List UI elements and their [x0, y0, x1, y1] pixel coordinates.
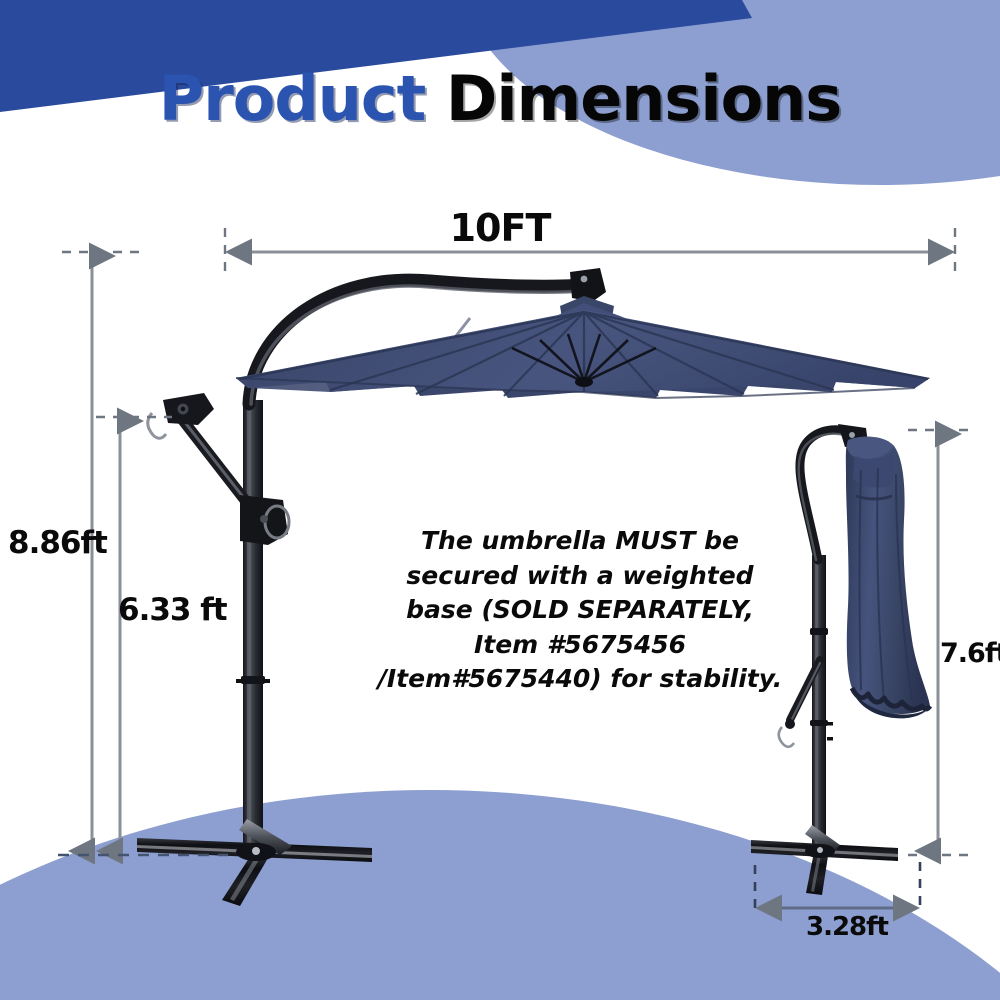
- dimension-label-8-86ft: 8.86ft: [8, 525, 107, 561]
- warning-note-line-3: base (SOLD SEPARATELY,: [360, 593, 800, 628]
- dimension-label-10ft: 10FT: [0, 206, 1000, 250]
- warning-note-line-2: secured with a weighted: [360, 559, 800, 594]
- dim-328ft: [755, 862, 920, 912]
- dim-633ft: [96, 417, 172, 851]
- warning-note: The umbrella MUST be secured with a weig…: [360, 524, 800, 697]
- warning-note-line-1: The umbrella MUST be: [360, 524, 800, 559]
- dimension-label-3-28ft: 3.28ft: [806, 912, 888, 942]
- dimension-label-7-6ft: 7.6ft: [940, 638, 1000, 669]
- warning-note-line-4: Item #5675456: [360, 628, 800, 663]
- dimension-lines: [0, 0, 1000, 1000]
- warning-note-line-5: /Item#5675440) for stability.: [360, 662, 800, 697]
- product-dimensions-infographic: Product Dimensions: [0, 0, 1000, 1000]
- dimension-label-6-33ft: 6.33 ft: [118, 592, 227, 628]
